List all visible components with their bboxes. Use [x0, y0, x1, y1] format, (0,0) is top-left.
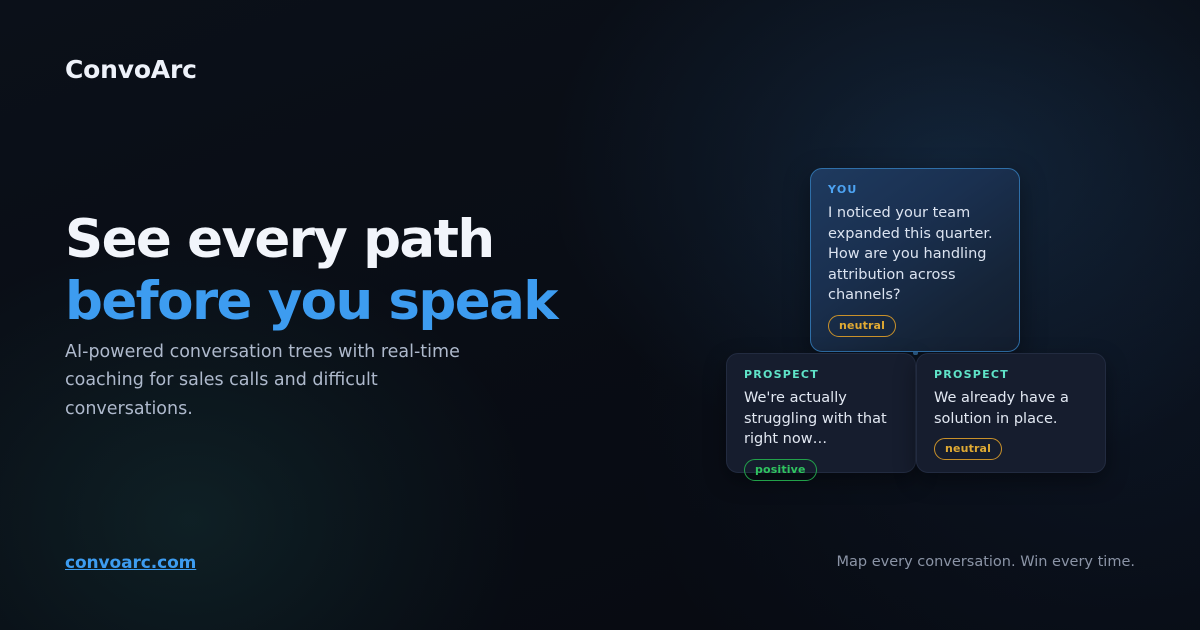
site-url-link[interactable]: convoarc.com: [65, 553, 196, 573]
sentiment-badge-child-2: neutral: [934, 438, 1002, 460]
conversation-node-child-2[interactable]: PROSPECT We already have a solution in p…: [916, 353, 1106, 473]
hero-subcopy: AI-powered conversation trees with real-…: [65, 338, 465, 423]
hero-canvas: ConvoArc See every path before you speak…: [0, 0, 1200, 630]
speaker-label-you: YOU: [828, 183, 1003, 196]
speaker-label-prospect-1: PROSPECT: [744, 368, 899, 381]
sentiment-badge-child-1: positive: [744, 459, 817, 481]
sentiment-badge-root: neutral: [828, 315, 896, 337]
conversation-node-root[interactable]: YOU I noticed your team expanded this qu…: [810, 168, 1020, 352]
brand-logo: ConvoArc: [65, 55, 197, 84]
message-text-child-1: We're actually struggling with that righ…: [744, 388, 899, 450]
footer-tagline: Map every conversation. Win every time.: [836, 554, 1135, 570]
page-title: See every path before you speak: [65, 213, 557, 328]
speaker-label-prospect-2: PROSPECT: [934, 368, 1089, 381]
headline-line-2: before you speak: [65, 275, 557, 328]
conversation-node-child-1[interactable]: PROSPECT We're actually struggling with …: [726, 353, 916, 473]
headline-line-1: See every path: [65, 213, 557, 266]
message-text-root: I noticed your team expanded this quarte…: [828, 203, 1003, 306]
conversation-tree: YOU I noticed your team expanded this qu…: [700, 150, 1130, 490]
message-text-child-2: We already have a solution in place.: [934, 388, 1089, 429]
